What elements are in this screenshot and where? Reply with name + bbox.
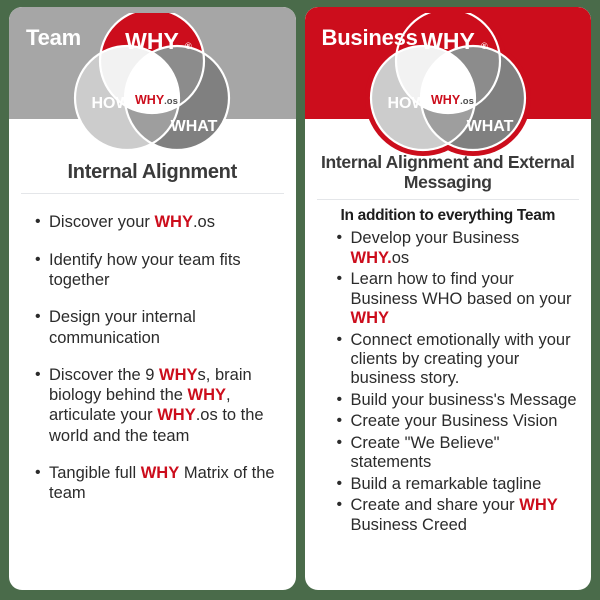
why-circle <box>100 13 204 113</box>
list-item-text: Identify how your team fits together <box>49 251 241 289</box>
list-item: Discover your WHY.os <box>35 212 278 232</box>
team-header-label: Team <box>26 25 81 51</box>
list-item: Build your business's Message <box>337 391 582 410</box>
list-item: Discover the 9 WHYs, brain biology behin… <box>35 365 278 446</box>
list-item-text: Connect emotionally with your clients by… <box>351 331 571 388</box>
why-highlight: WHY <box>519 496 558 514</box>
how-label: HOW <box>92 95 132 112</box>
list-item-text: Discover the 9 <box>49 366 159 384</box>
list-item-text: Business Creed <box>351 516 467 534</box>
why-label: WHY <box>421 28 475 54</box>
list-item-text: Build your business's Message <box>351 391 577 409</box>
why-registered-icon: ® <box>481 41 488 51</box>
list-item-text: Learn how to find your Business WHO base… <box>351 270 572 307</box>
why-highlight: WHY <box>159 366 198 384</box>
business-card-header: Business <box>305 7 592 119</box>
team-plan-card[interactable]: Team <box>9 7 296 590</box>
list-item-text: Develop your Business <box>351 229 520 247</box>
why-highlight: WHY <box>188 386 227 404</box>
comparison-cards-stage: Team <box>0 0 600 600</box>
list-item-text: Create "We Believe" statements <box>351 434 500 471</box>
list-item-text: Create and share your <box>351 496 520 514</box>
list-item: Build a remarkable tagline <box>337 475 582 494</box>
why-registered-icon: ® <box>185 41 192 51</box>
list-item-text: Tangible full <box>49 464 141 482</box>
why-highlight: WHY. <box>351 249 392 267</box>
business-title-zone: Internal Alignment and External Messagin… <box>305 119 592 192</box>
business-subheading: In addition to everything Team <box>305 200 592 226</box>
list-item: Design your internal communication <box>35 307 278 348</box>
list-item-text: Discover your <box>49 213 154 231</box>
list-item-text: Design your internal communication <box>49 308 196 346</box>
list-item: Develop your Business WHY.os <box>337 229 582 268</box>
list-item-text: Create your Business Vision <box>351 412 558 430</box>
list-item: Create "We Believe" statements <box>337 434 582 473</box>
why-os-center-label: WHY.os <box>135 93 178 107</box>
why-how-overlap <box>100 13 204 113</box>
list-item-text: .os <box>193 213 215 231</box>
list-item: Create your Business Vision <box>337 412 582 431</box>
why-label: WHY <box>125 28 179 54</box>
list-item-text: os <box>392 249 409 267</box>
why-os-center-label: WHY.os <box>431 93 474 107</box>
why-highlight: WHY <box>154 213 193 231</box>
list-item: Learn how to find your Business WHO base… <box>337 270 582 328</box>
how-label: HOW <box>387 95 427 112</box>
team-title-zone: Internal Alignment <box>9 119 296 183</box>
list-item: Tangible full WHY Matrix of the team <box>35 463 278 504</box>
business-header-label: Business <box>322 25 418 51</box>
team-card-header: Team <box>9 7 296 119</box>
team-benefits-list: Discover your WHY.osIdentify how your te… <box>9 194 296 520</box>
why-highlight: WHY <box>141 464 180 482</box>
team-card-title: Internal Alignment <box>19 161 286 183</box>
why-highlight: WHY <box>157 406 196 424</box>
business-plan-card[interactable]: Business <box>305 7 592 590</box>
why-highlight: WHY <box>351 309 390 327</box>
business-benefits-list: Develop your Business WHY.osLearn how to… <box>305 226 592 537</box>
list-item-text: Build a remarkable tagline <box>351 475 542 493</box>
list-item: Identify how your team fits together <box>35 250 278 291</box>
why-what-overlap <box>100 13 204 113</box>
list-item: Create and share your WHY Business Creed <box>337 496 582 535</box>
why-circle-outline <box>100 13 204 113</box>
business-card-title: Internal Alignment and External Messagin… <box>315 153 582 192</box>
list-item: Connect emotionally with your clients by… <box>337 331 582 389</box>
